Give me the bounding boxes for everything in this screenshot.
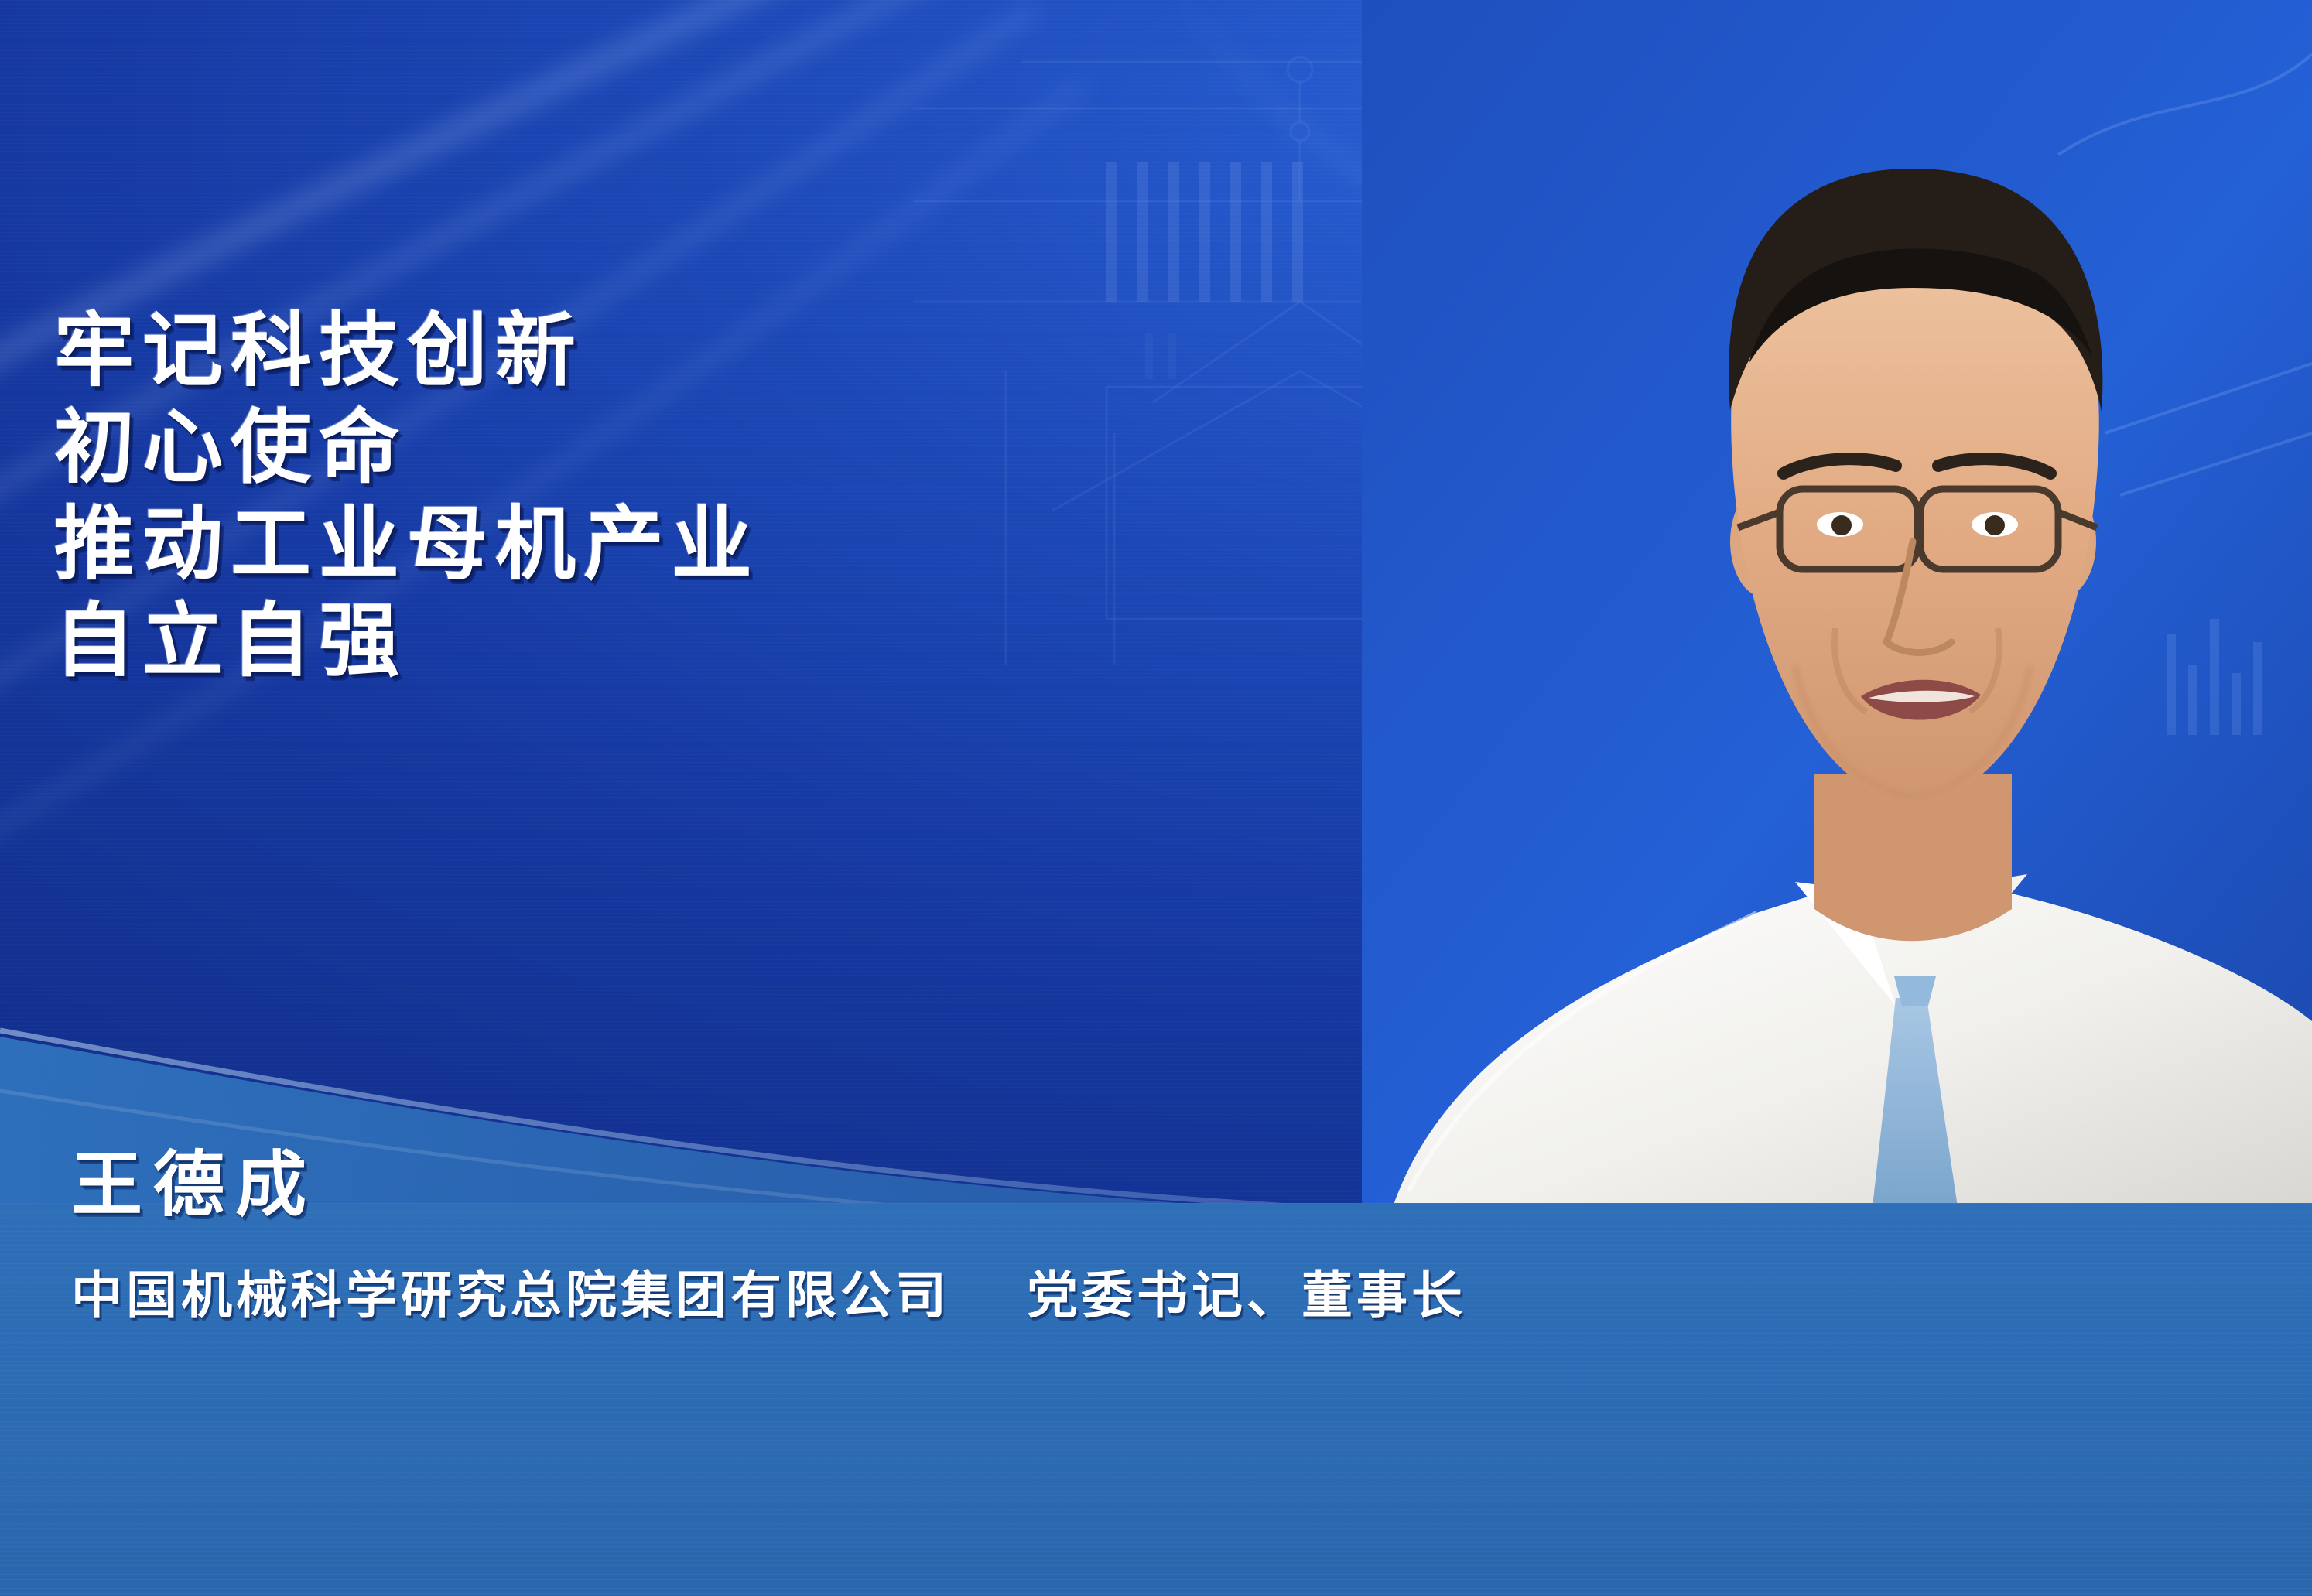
headline-line-1: 牢记科技创新 (54, 303, 1354, 400)
headline-line-3: 推动工业母机产业 (54, 497, 1354, 593)
headline-block: 牢记科技创新 初心使命 推动工业母机产业 自立自强 (54, 303, 1354, 690)
title-card-slide: 牢记科技创新 初心使命 推动工业母机产业 自立自强 王德成 中国机械科学研究总院… (0, 0, 2312, 1596)
portrait-image (1362, 0, 2312, 1207)
speaker-block: 王德成 中国机械科学研究总院集团有限公司 党委书记、董事长 (71, 1145, 1466, 1328)
headline-line-2: 初心使命 (54, 400, 1354, 497)
speaker-portrait (1362, 0, 2312, 1207)
speaker-organization: 中国机械科学研究总院集团有限公司 (71, 1268, 950, 1324)
headline-line-4: 自立自强 (54, 593, 1354, 690)
speaker-name: 王德成 (71, 1145, 1466, 1225)
speaker-title-row: 中国机械科学研究总院集团有限公司 党委书记、董事长 (71, 1266, 1466, 1328)
speaker-position: 党委书记、董事长 (1027, 1268, 1466, 1324)
